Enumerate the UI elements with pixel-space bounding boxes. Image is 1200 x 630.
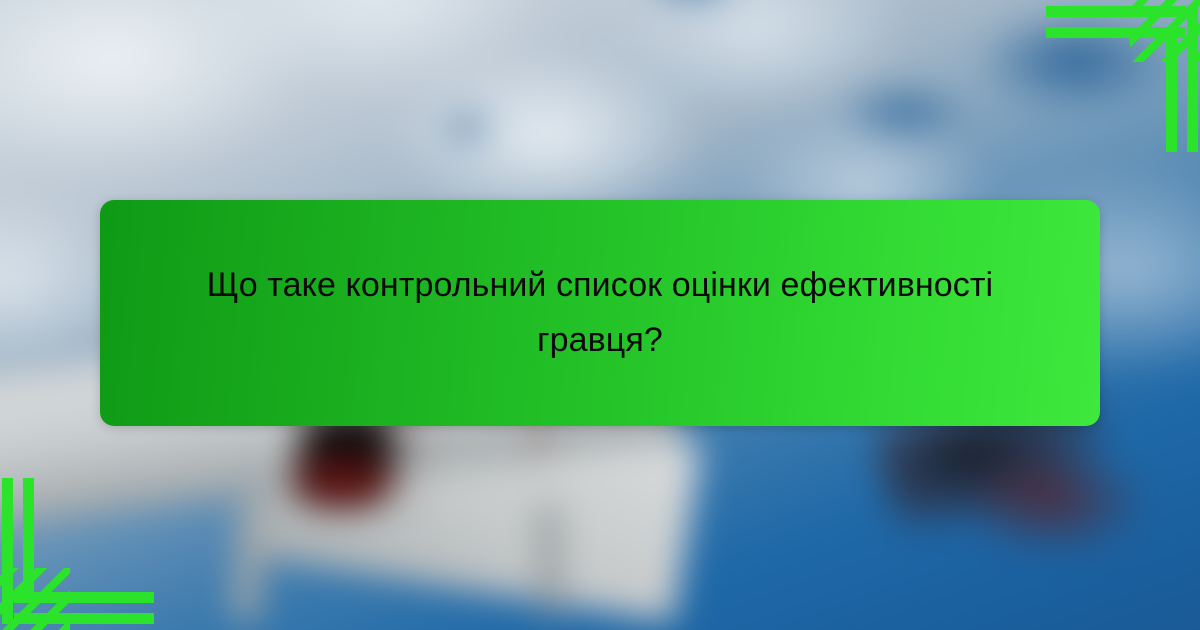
background-smudge-right-lower — [980, 460, 1140, 550]
banner-card: Що таке контрольний список оцінки ефекти… — [0, 0, 1200, 630]
basketball-rim — [290, 460, 395, 510]
headline-banner: Що таке контрольний список оцінки ефекти… — [100, 200, 1100, 426]
headline-banner-inner: Що таке контрольний список оцінки ефекти… — [170, 258, 1030, 368]
page-title: Що таке контрольний список оцінки ефекти… — [170, 258, 1030, 368]
hoop-support-pole-secondary — [538, 505, 562, 616]
